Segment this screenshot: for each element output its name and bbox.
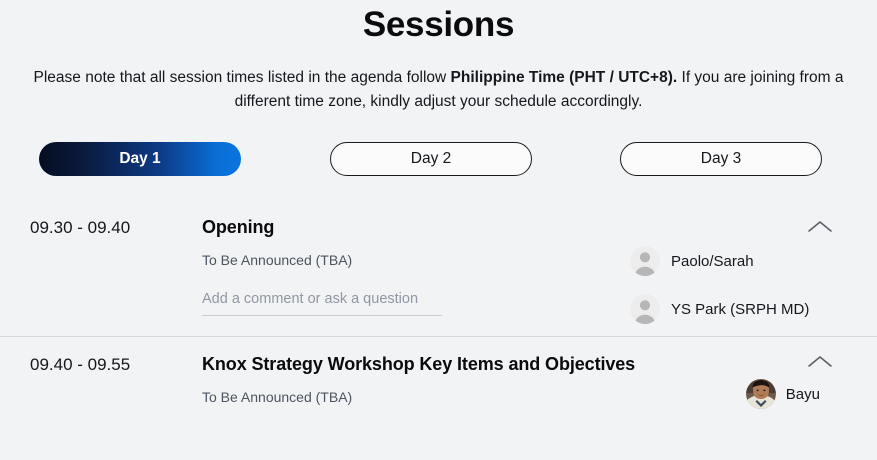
notice-text-bold: Philippine Time (PHT / UTC+8).: [451, 69, 678, 86]
page-title: Sessions: [0, 0, 877, 47]
speaker-name: YS Park (SRPH MD): [671, 300, 809, 319]
comment-box: [202, 290, 442, 316]
session-details: Opening To Be Announced (TBA): [202, 216, 630, 316]
timezone-notice: Please note that all session times liste…: [24, 66, 854, 114]
avatar-placeholder-icon: [630, 294, 660, 324]
session-subtitle: To Be Announced (TBA): [202, 251, 624, 270]
day-tab-1[interactable]: Day 1: [39, 142, 241, 176]
session-list: 09.30 - 09.40 Opening To Be Announced (T…: [0, 202, 877, 407]
speaker-item: Paolo/Sarah: [630, 246, 865, 276]
speaker-item: Bayu: [746, 379, 820, 409]
day-tab-bar: Day 1 Day 2 Day 3: [0, 142, 877, 176]
session-row[interactable]: 09.40 - 09.55 Knox Strategy Workshop Key…: [0, 336, 877, 407]
session-time: 09.40 - 09.55: [12, 353, 202, 376]
day-tab-3[interactable]: Day 3: [620, 142, 822, 176]
speaker-name: Bayu: [786, 385, 820, 404]
avatar-placeholder-icon: [630, 246, 660, 276]
session-title: Opening: [202, 216, 624, 239]
session-row[interactable]: 09.30 - 09.40 Opening To Be Announced (T…: [0, 202, 877, 324]
day-tab-2[interactable]: Day 2: [330, 142, 532, 176]
speaker-name: Paolo/Sarah: [671, 252, 754, 271]
chevron-up-icon[interactable]: [807, 353, 833, 371]
chevron-up-icon[interactable]: [807, 218, 833, 236]
session-time: 09.30 - 09.40: [12, 216, 202, 239]
comment-input[interactable]: [202, 291, 442, 316]
notice-text-before: Please note that all session times liste…: [34, 69, 451, 86]
session-title: Knox Strategy Workshop Key Items and Obj…: [202, 353, 859, 376]
avatar-photo: [746, 379, 776, 409]
speaker-item: YS Park (SRPH MD): [630, 294, 865, 324]
